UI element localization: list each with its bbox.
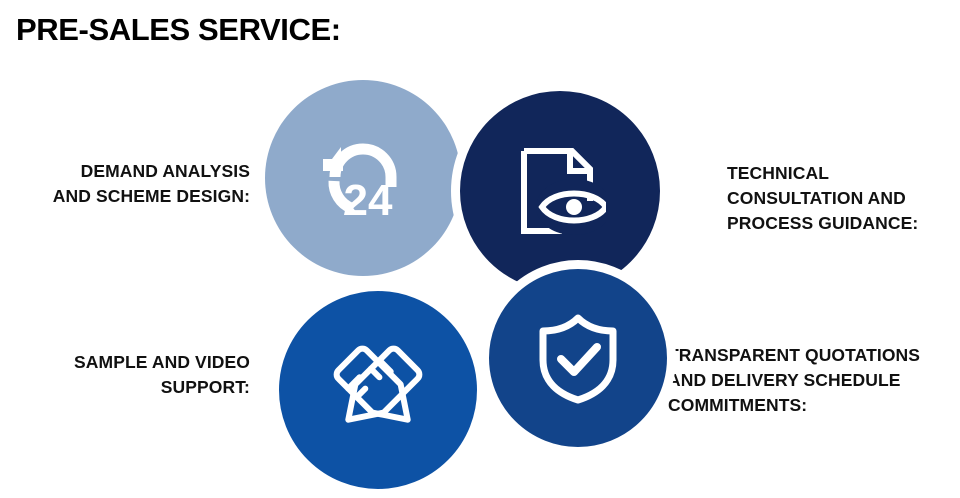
label-technical-consultation: TECHNICAL CONSULTATION AND PROCESS GUIDA… xyxy=(727,161,957,236)
shield-check-icon xyxy=(535,312,621,404)
page-title: PRE-SALES SERVICE: xyxy=(16,12,341,48)
crossed-pens-icon xyxy=(330,342,426,438)
clock-24-arrow-icon: 24 xyxy=(311,131,415,225)
label-demand-analysis: DEMAND ANALYSIS AND SCHEME DESIGN: xyxy=(10,159,250,209)
label-sample-video-support: SAMPLE AND VIDEO SUPPORT: xyxy=(10,350,250,400)
four-circle-diagram: 24 xyxy=(265,80,675,485)
document-eye-icon xyxy=(514,145,606,237)
icon-text-24: 24 xyxy=(344,176,393,225)
label-transparent-quotations: TRANSPARENT QUOTATIONS AND DELIVERY SCHE… xyxy=(668,343,960,418)
circle-sample-video-support[interactable] xyxy=(270,282,486,498)
circle-demand-analysis[interactable]: 24 xyxy=(265,80,461,276)
circle-transparent-quotations[interactable] xyxy=(480,260,676,456)
